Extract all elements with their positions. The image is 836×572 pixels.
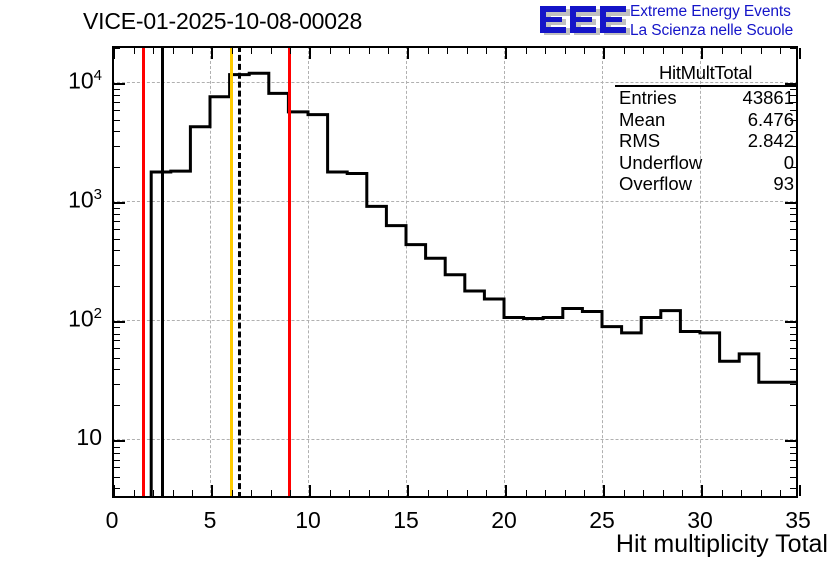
axis-tick	[271, 48, 272, 54]
axis-tick	[114, 460, 120, 461]
axis-tick	[114, 146, 120, 147]
axis-tick	[545, 48, 546, 54]
stats-key: RMS	[619, 130, 660, 152]
axis-tick	[349, 490, 350, 496]
axis-tick	[785, 202, 796, 204]
axis-tick	[663, 490, 664, 496]
axis-tick	[761, 48, 762, 54]
eee-logo-line2: La Scienza nelle Scuole	[630, 22, 793, 41]
axis-tick	[114, 327, 120, 328]
stats-box: HitMultTotal Entries43861Mean6.476RMS2.8…	[615, 62, 796, 195]
axis-tick	[114, 321, 125, 323]
stats-value: 43861	[743, 87, 794, 109]
root-canvas: VICE-01-2025-10-08-00028	[0, 0, 836, 572]
stats-key: Overflow	[619, 173, 692, 195]
axis-tick	[114, 440, 125, 442]
eee-logo-line1: Extreme Energy Events	[630, 3, 793, 22]
eee-logo-mark-icon	[538, 4, 634, 38]
axis-tick	[114, 358, 120, 359]
stats-key: Mean	[619, 109, 665, 131]
axis-tick	[799, 48, 801, 59]
axis-tick	[114, 214, 120, 215]
axis-tick	[790, 327, 796, 328]
axis-tick	[741, 490, 742, 496]
stats-row: RMS2.842	[615, 130, 796, 152]
axis-tick	[114, 102, 120, 103]
axis-tick	[114, 221, 120, 222]
axis-tick	[624, 490, 625, 496]
axis-tick	[799, 485, 801, 496]
eee-logo-text: Extreme Energy Events La Scienza nelle S…	[630, 3, 793, 40]
axis-tick	[114, 405, 120, 406]
axis-tick	[780, 48, 781, 54]
stats-row: Mean6.476	[615, 109, 796, 131]
axis-tick	[663, 48, 664, 54]
axis-tick	[192, 490, 193, 496]
axis-tick	[722, 48, 723, 54]
page-title: VICE-01-2025-10-08-00028	[83, 8, 362, 35]
axis-tick	[290, 48, 291, 54]
axis-tick	[722, 490, 723, 496]
axis-tick	[790, 358, 796, 359]
axis-tick	[467, 490, 468, 496]
axis-tick	[114, 334, 120, 335]
axis-tick	[467, 48, 468, 54]
axis-tick	[780, 490, 781, 496]
axis-tick	[114, 467, 120, 468]
axis-tick	[545, 490, 546, 496]
axis-tick	[505, 485, 507, 496]
y-tick-label: 10	[32, 424, 102, 451]
axis-tick	[114, 83, 125, 85]
axis-tick	[428, 48, 429, 54]
axis-tick	[251, 48, 252, 54]
axis-tick	[486, 48, 487, 54]
axis-tick	[741, 48, 742, 54]
axis-tick	[790, 229, 796, 230]
axis-tick	[232, 490, 233, 496]
axis-tick	[114, 229, 120, 230]
axis-tick	[643, 48, 644, 54]
axis-tick	[134, 48, 135, 54]
axis-tick	[486, 490, 487, 496]
axis-tick	[114, 265, 120, 266]
axis-tick	[114, 48, 120, 49]
stats-rows: Entries43861Mean6.476RMS2.842Underflow0O…	[615, 87, 796, 195]
stats-value: 0	[784, 152, 794, 174]
axis-tick	[790, 348, 796, 349]
axis-tick	[565, 490, 566, 496]
axis-tick	[290, 490, 291, 496]
axis-tick	[114, 447, 120, 448]
axis-tick	[526, 490, 527, 496]
axis-tick	[790, 467, 796, 468]
axis-tick	[407, 48, 409, 59]
axis-tick	[114, 250, 120, 251]
axis-tick	[603, 48, 605, 59]
x-tick-label: 15	[376, 507, 436, 534]
axis-tick	[584, 490, 585, 496]
axis-tick	[407, 485, 409, 496]
axis-tick	[447, 48, 448, 54]
axis-tick	[114, 477, 120, 478]
axis-tick	[701, 485, 703, 496]
axis-tick	[211, 485, 213, 496]
axis-tick	[526, 48, 527, 54]
axis-tick	[388, 490, 389, 496]
axis-tick	[309, 485, 311, 496]
axis-tick	[114, 488, 120, 489]
axis-tick	[790, 286, 796, 287]
axis-tick	[114, 131, 120, 132]
axis-tick	[173, 490, 174, 496]
axis-tick	[211, 48, 213, 59]
stats-value: 2.842	[748, 130, 794, 152]
axis-tick	[114, 453, 120, 454]
stats-value: 93	[773, 173, 794, 195]
axis-tick	[114, 286, 120, 287]
x-axis-title: Hit multiplicity Total	[616, 530, 828, 559]
axis-tick	[790, 265, 796, 266]
axis-tick	[790, 250, 796, 251]
stats-row: Underflow0	[615, 152, 796, 174]
axis-tick	[114, 384, 120, 385]
axis-tick	[790, 221, 796, 222]
axis-tick	[682, 490, 683, 496]
stats-row: Overflow93	[615, 173, 796, 195]
axis-tick	[790, 340, 796, 341]
axis-tick	[785, 440, 796, 442]
axis-tick	[565, 48, 566, 54]
axis-tick	[790, 405, 796, 406]
axis-tick	[232, 48, 233, 54]
axis-tick	[624, 48, 625, 54]
axis-tick	[349, 48, 350, 54]
axis-tick	[603, 485, 605, 496]
axis-tick	[785, 321, 796, 323]
axis-tick	[790, 447, 796, 448]
axis-tick	[114, 89, 120, 90]
axis-tick	[114, 239, 120, 240]
axis-tick	[114, 110, 120, 111]
axis-tick	[790, 384, 796, 385]
stats-value: 6.476	[748, 109, 794, 131]
axis-tick	[790, 48, 796, 49]
axis-tick	[114, 348, 120, 349]
axis-tick	[790, 477, 796, 478]
axis-tick	[309, 48, 311, 59]
axis-tick	[790, 453, 796, 454]
axis-tick	[271, 490, 272, 496]
x-tick-label: 5	[180, 507, 240, 534]
axis-tick	[114, 369, 120, 370]
stats-key: Underflow	[619, 152, 702, 174]
axis-tick	[790, 214, 796, 215]
axis-tick	[113, 48, 115, 59]
stats-box-title: HitMultTotal	[615, 62, 796, 87]
eee-logo: Extreme Energy Events La Scienza nelle S…	[538, 2, 834, 42]
axis-tick	[369, 490, 370, 496]
axis-tick	[447, 490, 448, 496]
y-tick-label: 102	[32, 305, 102, 333]
axis-tick	[682, 48, 683, 54]
axis-tick	[114, 167, 120, 168]
axis-tick	[584, 48, 585, 54]
axis-tick	[369, 48, 370, 54]
y-tick-label: 103	[32, 186, 102, 214]
axis-tick	[114, 202, 125, 204]
axis-tick	[428, 490, 429, 496]
axis-tick	[114, 340, 120, 341]
axis-tick	[192, 48, 193, 54]
axis-tick	[330, 490, 331, 496]
y-tick-label: 104	[32, 67, 102, 95]
axis-tick	[790, 488, 796, 489]
axis-tick	[790, 334, 796, 335]
axis-tick	[251, 490, 252, 496]
axis-tick	[505, 48, 507, 59]
axis-tick	[113, 485, 115, 496]
axis-tick	[388, 48, 389, 54]
stats-row: Entries43861	[615, 87, 796, 109]
axis-tick	[114, 95, 120, 96]
stats-key: Entries	[619, 87, 677, 109]
axis-tick	[790, 208, 796, 209]
axis-tick	[114, 208, 120, 209]
axis-tick	[761, 490, 762, 496]
x-tick-label: 20	[474, 507, 534, 534]
axis-tick	[790, 369, 796, 370]
axis-tick	[153, 48, 154, 54]
axis-tick	[701, 48, 703, 59]
axis-tick	[330, 48, 331, 54]
x-tick-label: 10	[278, 507, 338, 534]
axis-tick	[173, 48, 174, 54]
axis-tick	[134, 490, 135, 496]
axis-tick	[153, 490, 154, 496]
axis-tick	[790, 239, 796, 240]
axis-tick	[114, 120, 120, 121]
axis-tick	[790, 460, 796, 461]
x-tick-label: 0	[82, 507, 142, 534]
axis-tick	[643, 490, 644, 496]
